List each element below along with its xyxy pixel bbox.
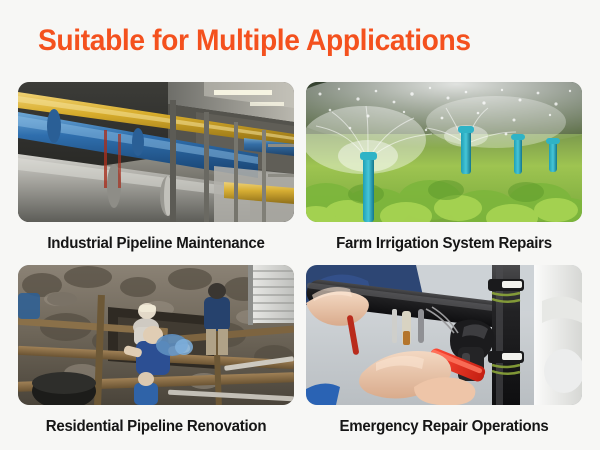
applications-gallery-page: Suitable for Multiple Applications: [0, 0, 600, 450]
application-card[interactable]: Farm Irrigation System Repairs: [306, 82, 582, 257]
application-card-caption: Emergency Repair Operations: [310, 414, 578, 440]
residential-trench-excavation-photo: [18, 265, 294, 405]
application-card[interactable]: Residential Pipeline Renovation: [18, 265, 294, 440]
application-card-caption: Residential Pipeline Renovation: [22, 414, 290, 440]
page-title: Suitable for Multiple Applications: [38, 24, 471, 58]
industrial-pipeline-gallery-photo: [18, 82, 294, 222]
farm-irrigation-sprinkler-photo: [306, 82, 582, 222]
application-card[interactable]: Emergency Repair Operations: [306, 265, 582, 440]
application-card-grid: Industrial Pipeline Maintenance: [18, 82, 582, 440]
application-card-caption: Farm Irrigation System Repairs: [310, 231, 578, 257]
application-card[interactable]: Industrial Pipeline Maintenance: [18, 82, 294, 257]
application-card-caption: Industrial Pipeline Maintenance: [22, 231, 290, 257]
emergency-wrench-repair-photo: [306, 265, 582, 405]
